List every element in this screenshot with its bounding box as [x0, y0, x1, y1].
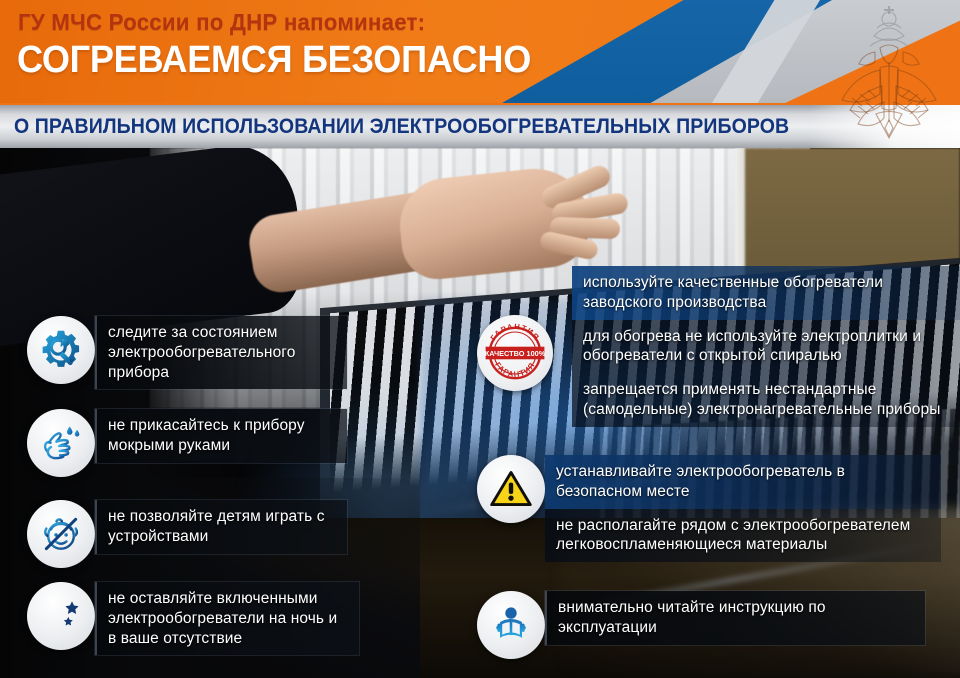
- moon-stars-icon: [27, 582, 95, 650]
- placement-advice-text-2: не располагайте рядом с электрообогреват…: [545, 509, 941, 563]
- quality-advice-text-3: запрещается применять нестандартные (сам…: [572, 373, 960, 427]
- list-item-no-children: не позволяйте детям играть с устройствам…: [27, 500, 347, 568]
- stamp-center-text: КАЧЕСТВО 100%: [485, 349, 546, 358]
- list-item-wet-hands: не прикасайтесь к прибору мокрыми руками: [27, 409, 347, 477]
- no-children-icon: [27, 500, 95, 568]
- list-item-safe-placement: устанавливайте электрообогреватель в без…: [477, 455, 941, 562]
- quality-advice-text-2: для обогрева не используйте электроплитк…: [572, 320, 960, 374]
- gear-wrench-icon: [27, 316, 95, 384]
- svg-text:ГАРАНТИЯ: ГАРАНТИЯ: [493, 360, 537, 379]
- placement-advice-group: устанавливайте электрообогреватель в без…: [545, 455, 941, 562]
- header-banner: ГУ МЧС России по ДНР напоминает: СОГРЕВА…: [0, 0, 960, 103]
- subtitle-bar: О ПРАВИЛЬНОМ ИСПОЛЬЗОВАНИИ ЭЛЕКТРООБОГРЕ…: [0, 103, 960, 148]
- list-item-text: внимательно читайте инструкцию по эксплу…: [545, 591, 925, 645]
- header-reminder-line: ГУ МЧС России по ДНР напоминает:: [18, 9, 425, 36]
- subtitle-text: О ПРАВИЛЬНОМ ИСПОЛЬЗОВАНИИ ЭЛЕКТРООБОГРЕ…: [14, 115, 789, 139]
- warning-triangle-icon: [477, 455, 545, 523]
- open-book-reading-icon: [477, 591, 545, 659]
- quality-advice-group: используйте качественные обогреватели за…: [572, 266, 960, 427]
- quality-advice-text-1: используйте качественные обогреватели за…: [572, 266, 960, 320]
- list-item-text: не оставляйте включенными электрообогрев…: [95, 582, 359, 655]
- list-item-text: не позволяйте детям играть с устройствам…: [95, 500, 347, 554]
- list-item-monitor-device: следите за состоянием электрообогревател…: [27, 316, 347, 389]
- list-item-text: следите за состоянием электрообогревател…: [95, 316, 347, 389]
- quality-guarantee-stamp: ГАРАНТИЯ ГАРАНТИЯ КАЧЕСТВО 100%: [477, 315, 553, 391]
- stamp-bottom-text: ГАРАНТИЯ: [493, 360, 537, 379]
- list-item-night-off: не оставляйте включенными электрообогрев…: [27, 582, 359, 655]
- infographic-poster: ГУ МЧС России по ДНР напоминает: СОГРЕВА…: [0, 0, 960, 678]
- list-item-read-manual: внимательно читайте инструкцию по эксплу…: [477, 591, 925, 659]
- placement-advice-text-1: устанавливайте электрообогреватель в без…: [545, 455, 941, 509]
- header-main-title: СОГРЕВАЕМСЯ БЕЗОПАСНО: [17, 41, 531, 79]
- wet-hands-icon: [27, 409, 95, 477]
- list-item-text: не прикасайтесь к прибору мокрыми руками: [95, 409, 347, 463]
